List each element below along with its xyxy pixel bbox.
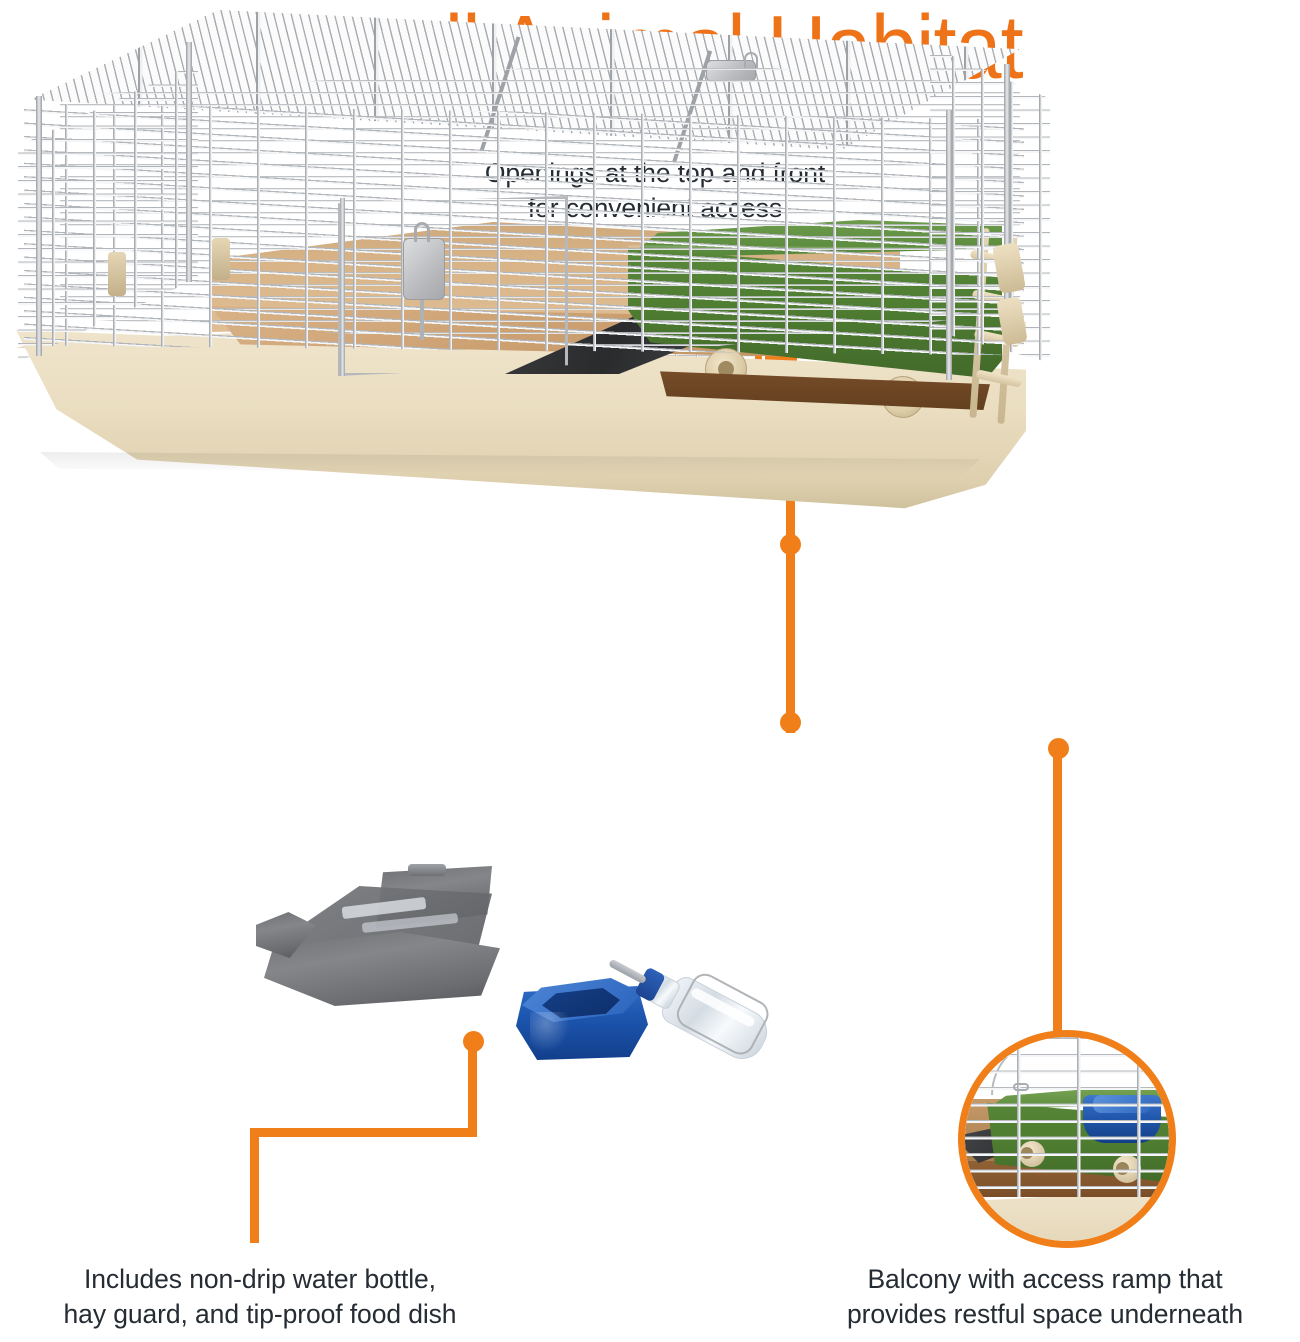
cage-corner-post-left-front	[36, 96, 42, 356]
main-cage-image	[0, 0, 1030, 540]
cage-corner-post-right-front	[946, 110, 952, 380]
caption-bottom-right-balcony: Balcony with access ramp that provides r…	[790, 1262, 1300, 1332]
tray-clip-mid	[212, 238, 230, 280]
cage-corner-post-left-back	[186, 42, 192, 282]
infographic-canvas: Small Animal Habitat Openings at the top…	[0, 0, 1300, 1342]
callout-left-connector-vertical-upper	[468, 1040, 477, 1136]
callout-left-connector-horizontal	[250, 1128, 477, 1137]
callout-top-marker-lower	[780, 712, 801, 733]
hay-guard	[256, 866, 516, 1026]
front-door-frame[interactable]	[338, 196, 568, 376]
front-door-latch[interactable]	[403, 238, 445, 300]
callout-right-connector-vertical	[1053, 746, 1062, 1036]
inset-balcony-detail	[958, 1030, 1176, 1248]
callout-left-connector-vertical-lower	[250, 1128, 259, 1243]
front-door-latch-hook	[414, 222, 430, 242]
tray-clip-left	[108, 252, 126, 296]
caption-bottom-left-accessories: Includes non-drip water bottle, hay guar…	[0, 1262, 520, 1332]
callout-top-marker-upper	[780, 534, 801, 555]
water-bottle	[591, 933, 787, 1108]
front-door-hinge-post	[340, 198, 345, 376]
top-door-latch-hook	[744, 52, 758, 68]
front-door-latch-pin	[420, 300, 424, 340]
accessory-group	[250, 860, 770, 1100]
